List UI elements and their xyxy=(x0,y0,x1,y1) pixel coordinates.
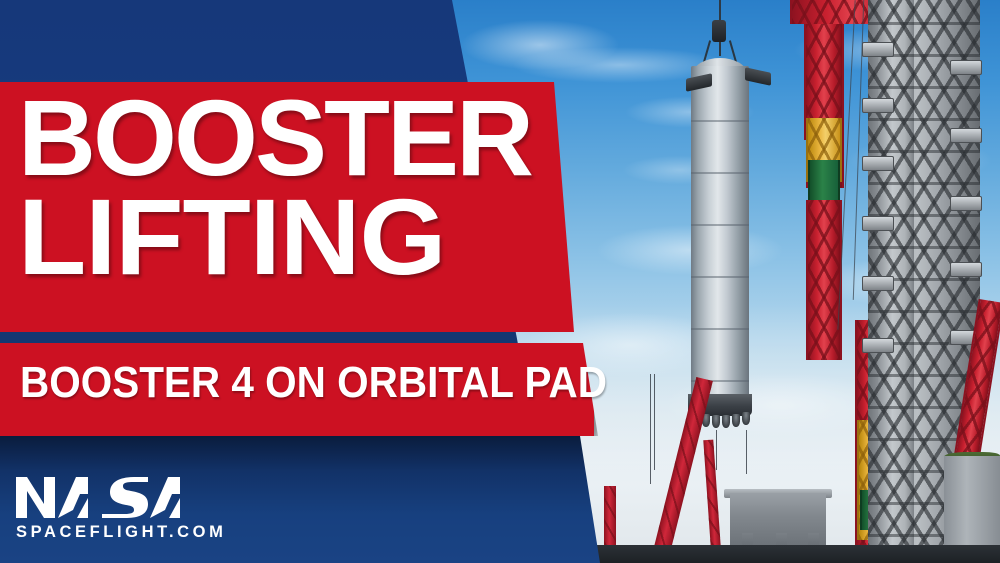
crane-hoist-line xyxy=(650,374,651,484)
booster-weld-ring xyxy=(691,120,749,122)
tower-arm xyxy=(862,276,894,291)
booster-weld-ring xyxy=(691,224,749,226)
tower-arm xyxy=(950,60,982,75)
raptor-engine xyxy=(742,412,750,425)
tower-arm xyxy=(862,338,894,353)
raptor-engine xyxy=(732,414,740,427)
tag-line xyxy=(716,430,717,470)
pad-ground-deck xyxy=(560,545,1000,563)
tower-arm xyxy=(950,196,982,211)
crane-boom-red xyxy=(806,200,842,360)
page-title: BOOSTER LIFTING xyxy=(18,88,558,287)
booster-weld-ring xyxy=(691,172,749,174)
crane-hoist-line xyxy=(654,374,655,470)
tower-arm xyxy=(862,156,894,171)
video-thumbnail: BOOSTER LIFTING BOOSTER 4 ON ORBITAL PAD… xyxy=(0,0,1000,563)
crane-hook-block xyxy=(712,20,726,42)
title-line-1: BOOSTER xyxy=(18,88,558,187)
booster-vehicle xyxy=(691,66,749,396)
booster-weld-ring xyxy=(691,276,749,278)
title-line-2: LIFTING xyxy=(18,187,577,286)
tower-arm xyxy=(950,128,982,143)
nasaspaceflight-logo: SPACEFLIGHT.COM xyxy=(14,474,214,542)
tower-arm xyxy=(862,42,894,57)
tower-arm xyxy=(950,262,982,277)
tag-line xyxy=(746,430,747,474)
booster-weld-ring xyxy=(691,328,749,330)
subtitle-text: BOOSTER 4 ON ORBITAL PAD xyxy=(20,361,607,405)
raptor-engine xyxy=(712,415,720,428)
raptor-engine xyxy=(722,415,730,428)
tower-arm xyxy=(862,216,894,231)
nasa-wordmark-icon xyxy=(14,474,190,520)
pad-tank-structure xyxy=(944,456,1000,550)
logo-domain-text: SPACEFLIGHT.COM xyxy=(14,523,214,542)
tower-arm xyxy=(862,98,894,113)
